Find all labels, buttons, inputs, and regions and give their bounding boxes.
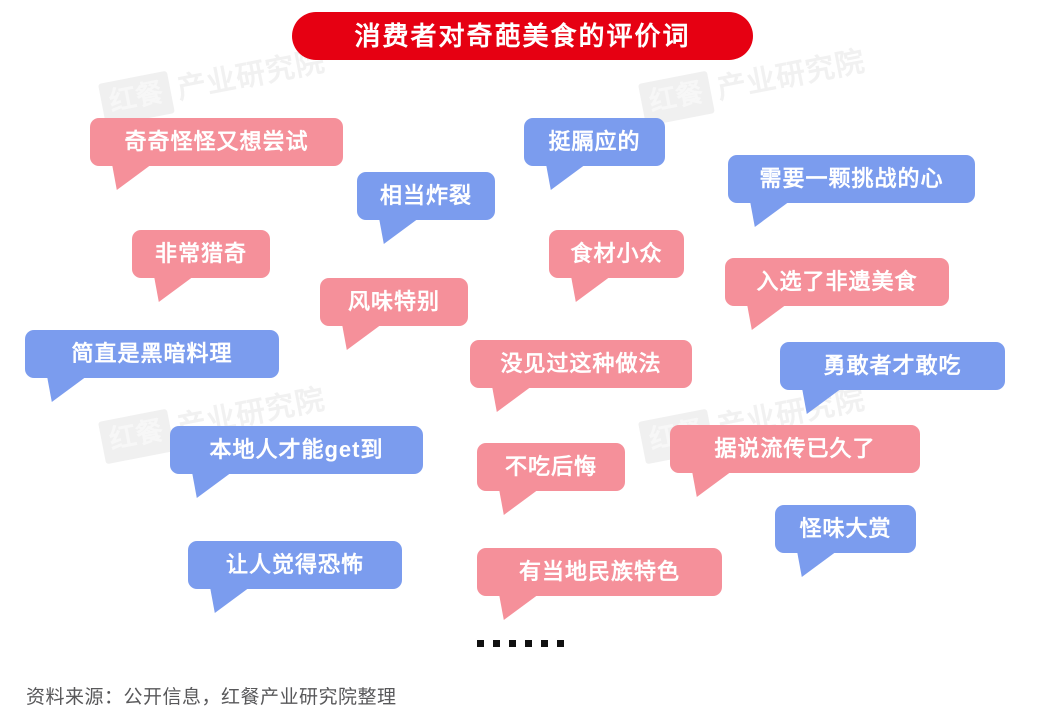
comment-bubble: 简直是黑暗料理 — [25, 330, 279, 378]
comment-bubble: 没见过这种做法 — [470, 340, 692, 388]
ellipsis-dot — [525, 640, 532, 647]
comment-bubble: 怪味大赏 — [775, 505, 916, 553]
comment-bubble-label: 本地人才能get到 — [209, 439, 383, 461]
comment-bubble-label: 勇敢者才敢吃 — [823, 355, 961, 377]
comment-bubble-label: 挺膈应的 — [548, 131, 640, 153]
comment-bubble: 挺膈应的 — [524, 118, 665, 166]
ellipsis-dot — [541, 640, 548, 647]
comment-bubble-label: 简直是黑暗料理 — [71, 343, 232, 365]
comment-bubble: 需要一颗挑战的心 — [728, 155, 975, 203]
bubble-tail-icon — [499, 594, 539, 620]
comment-bubble: 本地人才能get到 — [170, 426, 423, 474]
bubble-tail-icon — [571, 276, 611, 302]
bubble-tail-icon — [747, 304, 787, 330]
infographic-canvas: 红餐产业研究院红餐产业研究院红餐产业研究院红餐产业研究院 消费者对奇葩美食的评价… — [0, 0, 1039, 721]
comment-bubble-body: 有当地民族特色 — [477, 548, 722, 596]
comment-bubble-body: 奇奇怪怪又想尝试 — [90, 118, 343, 166]
comment-bubble-body: 非常猎奇 — [132, 230, 270, 278]
comment-bubble: 奇奇怪怪又想尝试 — [90, 118, 343, 166]
ellipsis-dot — [509, 640, 516, 647]
comment-bubble-label: 不吃后悔 — [505, 456, 597, 478]
bubble-tail-icon — [492, 386, 532, 412]
bubble-tail-icon — [210, 587, 250, 613]
comment-bubble-body: 没见过这种做法 — [470, 340, 692, 388]
watermark-badge: 红餐 — [98, 409, 175, 465]
comment-bubble-label: 风味特别 — [348, 291, 440, 313]
comment-bubble-body: 怪味大赏 — [775, 505, 916, 553]
comment-bubble-label: 非常猎奇 — [155, 243, 247, 265]
bubble-tail-icon — [692, 471, 732, 497]
comment-bubble-label: 需要一颗挑战的心 — [759, 168, 943, 190]
comment-bubble-label: 让人觉得恐怖 — [226, 554, 364, 576]
comment-bubble-label: 入选了非遗美食 — [756, 271, 917, 293]
comment-bubble: 让人觉得恐怖 — [188, 541, 402, 589]
bubble-tail-icon — [379, 218, 419, 244]
comment-bubble-body: 食材小众 — [549, 230, 684, 278]
comment-bubble-body: 入选了非遗美食 — [725, 258, 949, 306]
comment-bubble-body: 简直是黑暗料理 — [25, 330, 279, 378]
bubble-tail-icon — [546, 164, 586, 190]
ellipsis-dot — [557, 640, 564, 647]
comment-bubble-body: 风味特别 — [320, 278, 468, 326]
comment-bubble: 据说流传已久了 — [670, 425, 920, 473]
ellipsis-dot — [493, 640, 500, 647]
comment-bubble: 相当炸裂 — [357, 172, 495, 220]
comment-bubble: 食材小众 — [549, 230, 684, 278]
bubble-tail-icon — [750, 201, 790, 227]
comment-bubble-label: 食材小众 — [570, 243, 662, 265]
comment-bubble: 有当地民族特色 — [477, 548, 722, 596]
comment-bubble-body: 需要一颗挑战的心 — [728, 155, 975, 203]
ellipsis-indicator — [477, 640, 564, 647]
comment-bubble-label: 相当炸裂 — [380, 185, 472, 207]
watermark: 红餐产业研究院 — [98, 41, 329, 127]
bubble-tail-icon — [802, 388, 842, 414]
ellipsis-dot — [477, 640, 484, 647]
comment-bubble-label: 怪味大赏 — [799, 518, 891, 540]
comment-bubble-body: 相当炸裂 — [357, 172, 495, 220]
comment-bubble-body: 挺膈应的 — [524, 118, 665, 166]
comment-bubble: 勇敢者才敢吃 — [780, 342, 1005, 390]
comment-bubble: 入选了非遗美食 — [725, 258, 949, 306]
bubble-tail-icon — [797, 551, 837, 577]
comment-bubble-label: 没见过这种做法 — [500, 353, 661, 375]
source-note: 资料来源：公开信息，红餐产业研究院整理 — [26, 688, 397, 707]
bubble-tail-icon — [112, 164, 152, 190]
comment-bubble: 风味特别 — [320, 278, 468, 326]
comment-bubble-body: 据说流传已久了 — [670, 425, 920, 473]
comment-bubble-body: 本地人才能get到 — [170, 426, 423, 474]
comment-bubble-label: 据说流传已久了 — [714, 438, 875, 460]
comment-bubble: 不吃后悔 — [477, 443, 625, 491]
comment-bubble-body: 不吃后悔 — [477, 443, 625, 491]
bubble-tail-icon — [192, 472, 232, 498]
comment-bubble: 非常猎奇 — [132, 230, 270, 278]
comment-bubble-body: 让人觉得恐怖 — [188, 541, 402, 589]
bubble-tail-icon — [342, 324, 382, 350]
bubble-tail-icon — [154, 276, 194, 302]
comment-bubble-label: 有当地民族特色 — [519, 561, 680, 583]
comment-bubble-body: 勇敢者才敢吃 — [780, 342, 1005, 390]
comment-bubble-label: 奇奇怪怪又想尝试 — [124, 131, 308, 153]
page-title: 消费者对奇葩美食的评价词 — [354, 23, 690, 49]
bubble-tail-icon — [47, 376, 87, 402]
bubble-tail-icon — [499, 489, 539, 515]
page-title-banner: 消费者对奇葩美食的评价词 — [292, 12, 753, 60]
